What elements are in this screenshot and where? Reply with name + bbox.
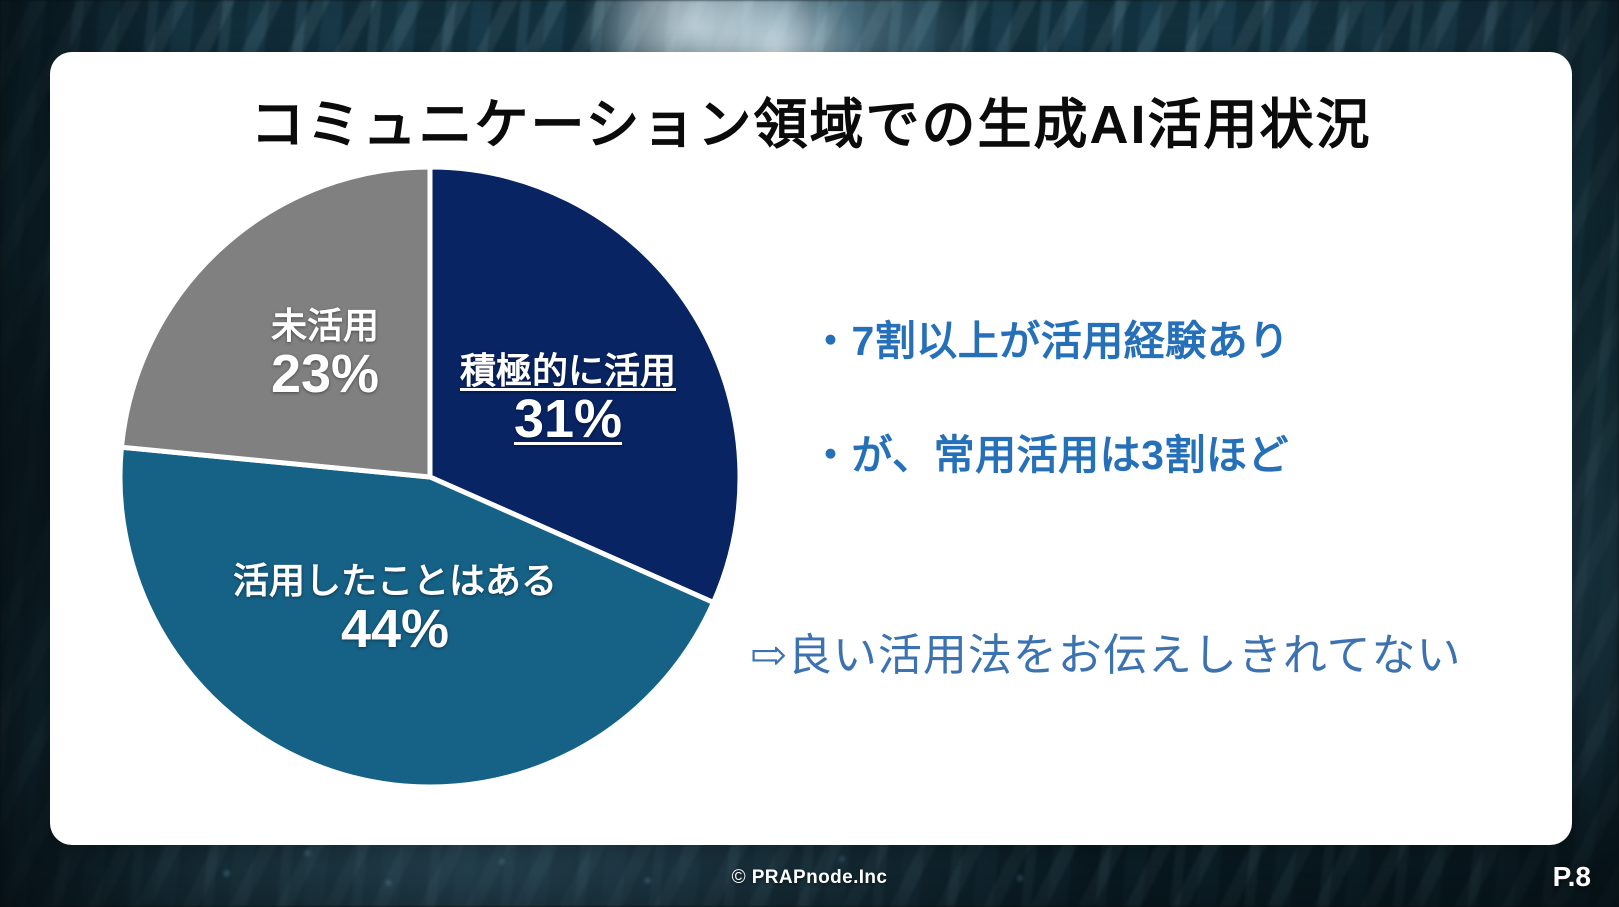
pie-chart-svg bbox=[95, 157, 765, 797]
brand-name-strong: PRAP bbox=[752, 867, 806, 888]
pie-label-sekkyokuteki-name: 積極的に活用 bbox=[413, 352, 723, 389]
insight-bullet-1: ・7割以上が活用経験あり bbox=[810, 307, 1530, 367]
page-number: P.8 bbox=[1553, 861, 1591, 893]
pie-slices bbox=[120, 167, 740, 787]
pie-label-mikatsuyou-name: 未活用 bbox=[200, 307, 450, 344]
pie-label-sekkyokuteki-value: 31% bbox=[413, 391, 723, 447]
copyright-icon: © bbox=[732, 867, 746, 888]
pie-label-sekkyokuteki: 積極的に活用 31% bbox=[413, 352, 723, 448]
slide-root: コミュニケーション領域での生成AI活用状況 未活用 23% bbox=[0, 0, 1619, 907]
pie-label-katsuyou-shita: 活用したことはある 44% bbox=[180, 562, 610, 658]
brand-name-rest: node.Inc bbox=[806, 867, 887, 888]
insight-bullet-2: ・が、常用活用は3割ほど bbox=[810, 421, 1530, 481]
content-card: コミュニケーション領域での生成AI活用状況 未活用 23% bbox=[50, 52, 1572, 845]
pie-label-katsuyou-shita-value: 44% bbox=[180, 601, 610, 657]
page-title: コミュニケーション領域での生成AI活用状況 bbox=[50, 80, 1572, 159]
pie-label-katsuyou-shita-name: 活用したことはある bbox=[180, 562, 610, 599]
conclusion-text: ⇨良い活用法をお伝えしきれてない bbox=[750, 619, 1570, 683]
pie-chart: 未活用 23% 積極的に活用 31% 活用したことはある 44% bbox=[95, 157, 765, 797]
insight-bullet-list: ・7割以上が活用経験あり ・が、常用活用は3割ほど bbox=[810, 307, 1530, 535]
footer-copyright: © PRAPnode.Inc bbox=[0, 867, 1619, 889]
